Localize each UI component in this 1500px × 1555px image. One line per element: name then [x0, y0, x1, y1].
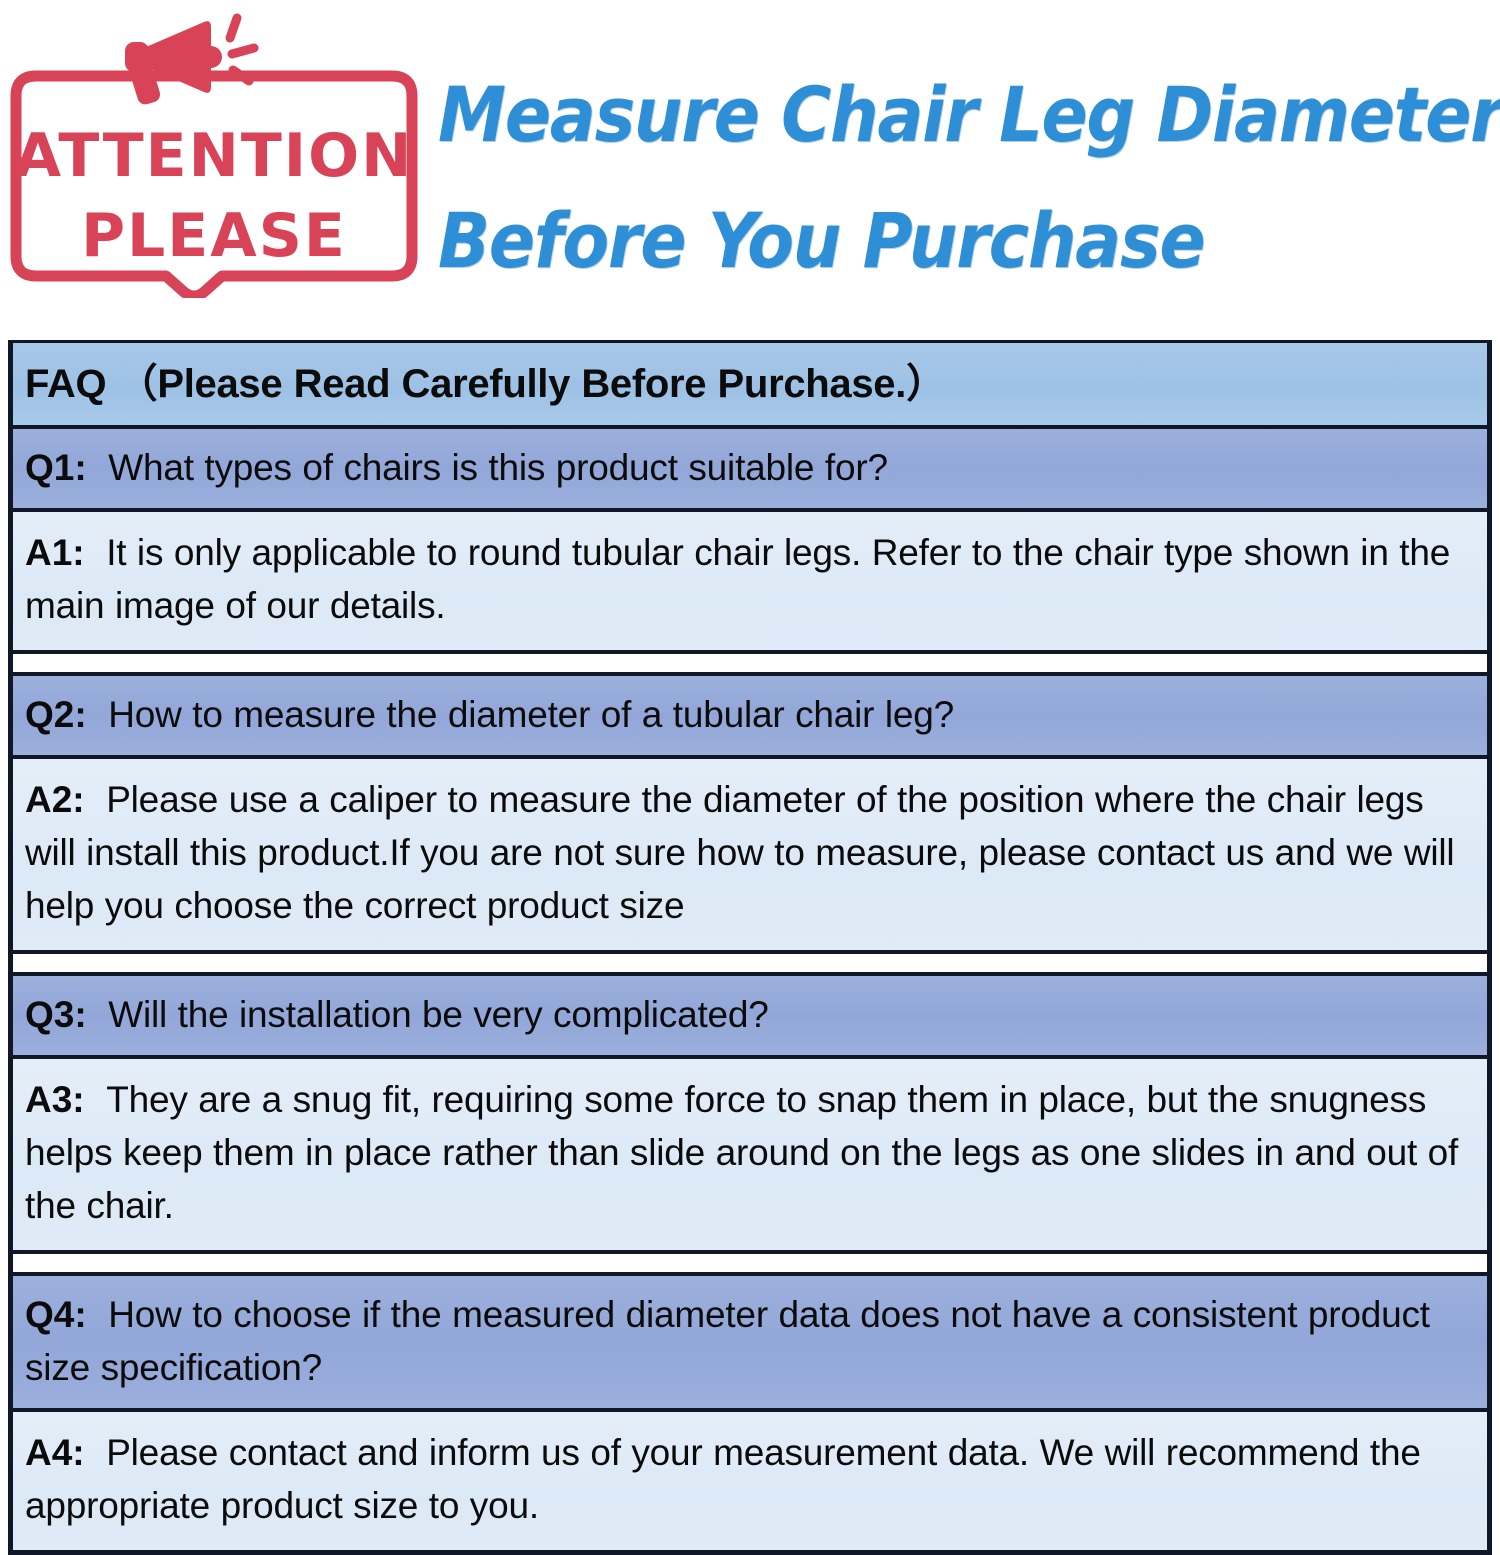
faq-question-text-1: Q1:What types of chairs is this product …: [25, 441, 1475, 494]
faq-answer-row-2: A2:Please use a caliper to measure the d…: [13, 759, 1487, 954]
faq-question-tag-3: Q3:: [25, 994, 108, 1035]
faq-spacer-row-3: [13, 1254, 1487, 1276]
faq-question-body-3: Will the installation be very complicate…: [108, 994, 768, 1035]
faq-question-row-3: Q3:Will the installation be very complic…: [13, 976, 1487, 1059]
faq-question-row-2: Q2:How to measure the diameter of a tubu…: [13, 676, 1487, 759]
faq-answer-body-3: They are a snug fit, requiring some forc…: [25, 1079, 1458, 1226]
faq-answer-body-4: Please contact and inform us of your mea…: [25, 1432, 1421, 1526]
faq-answer-tag-4: A4:: [25, 1432, 106, 1473]
faq-spacer-row-1: [13, 654, 1487, 676]
faq-answer-row-4: A4:Please contact and inform us of your …: [13, 1412, 1487, 1550]
faq-question-tag-4: Q4:: [25, 1294, 108, 1335]
faq-question-text-3: Q3:Will the installation be very complic…: [25, 988, 1475, 1041]
faq-question-tag-2: Q2:: [25, 694, 108, 735]
page-title: Measure Chair Leg Diameter Size Before Y…: [438, 52, 1488, 304]
faq-question-body-4: How to choose if the measured diameter d…: [25, 1294, 1430, 1388]
faq-answer-row-3: A3:They are a snug fit, requiring some f…: [13, 1059, 1487, 1254]
faq-header-label: FAQ （Please Read Carefully Before Purcha…: [25, 357, 1475, 411]
faq-question-row-1: Q1:What types of chairs is this product …: [13, 429, 1487, 512]
faq-question-text-2: Q2:How to measure the diameter of a tubu…: [25, 688, 1475, 741]
attention-please-badge: ATTENTION PLEASE: [8, 8, 420, 298]
page-title-line-1: Measure Chair Leg Diameter Size: [438, 52, 1383, 178]
faq-spacer-row-2: [13, 954, 1487, 976]
faq-answer-row-1: A1:It is only applicable to round tubula…: [13, 512, 1487, 654]
faq-answer-text-2: A2:Please use a caliper to measure the d…: [25, 773, 1475, 932]
page-title-line-2: Before You Purchase: [438, 178, 1383, 304]
faq-question-row-4: Q4:How to choose if the measured diamete…: [13, 1276, 1487, 1412]
faq-question-tag-1: Q1:: [25, 447, 108, 488]
faq-table: FAQ （Please Read Carefully Before Purcha…: [8, 340, 1492, 1555]
faq-answer-tag-2: A2:: [25, 779, 106, 820]
faq-question-body-1: What types of chairs is this product sui…: [108, 447, 888, 488]
faq-answer-tag-1: A1:: [25, 532, 106, 573]
faq-answer-body-2: Please use a caliper to measure the diam…: [25, 779, 1454, 926]
faq-question-text-4: Q4:How to choose if the measured diamete…: [25, 1288, 1475, 1394]
megaphone-icon: [125, 21, 222, 106]
faq-answer-text-1: A1:It is only applicable to round tubula…: [25, 526, 1475, 632]
faq-question-body-2: How to measure the diameter of a tubular…: [108, 694, 954, 735]
faq-answer-body-1: It is only applicable to round tubular c…: [25, 532, 1450, 626]
header-banner: ATTENTION PLEASE Measure Chair Leg Diame…: [0, 0, 1500, 325]
badge-line1: ATTENTION: [15, 121, 414, 191]
faq-answer-text-3: A3:They are a snug fit, requiring some f…: [25, 1073, 1475, 1232]
faq-answer-text-4: A4:Please contact and inform us of your …: [25, 1426, 1475, 1532]
badge-line2: PLEASE: [81, 201, 347, 271]
faq-answer-tag-3: A3:: [25, 1079, 106, 1120]
faq-table-header-row: FAQ （Please Read Carefully Before Purcha…: [13, 343, 1487, 429]
